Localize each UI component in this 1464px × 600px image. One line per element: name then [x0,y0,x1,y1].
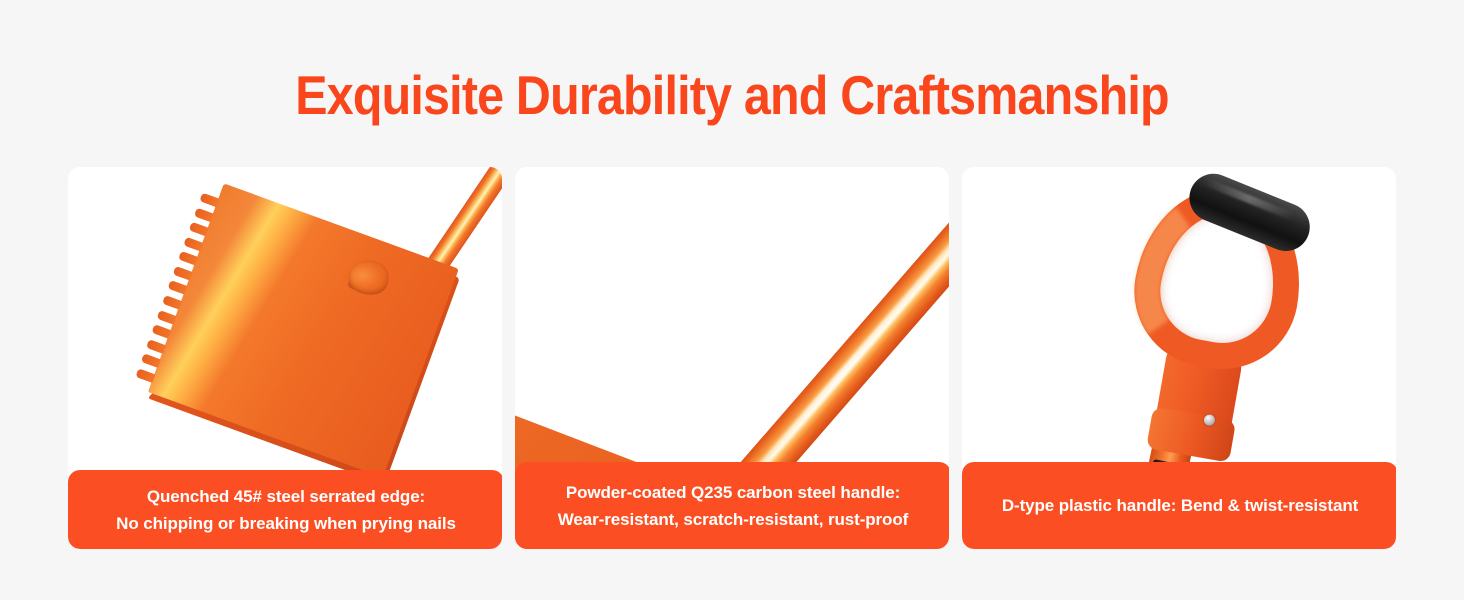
infographic-page: Exquisite Durability and Craftsmanship [0,0,1464,600]
page-title: Exquisite Durability and Craftsmanship [88,64,1376,126]
tooth [199,193,219,208]
tooth [178,251,198,266]
tooth [146,339,166,354]
tooth [189,222,209,237]
caption-line: Quenched 45# steel serrated edge: [147,483,425,510]
tooth [173,266,193,281]
feature-card-serrated-edge: Quenched 45# steel serrated edge: No chi… [68,167,502,549]
caption-bar-serrated-edge: Quenched 45# steel serrated edge: No chi… [68,470,502,549]
caption-bar-d-type-handle: D-type plastic handle: Bend & twist-resi… [962,462,1396,549]
tooth [167,280,187,295]
caption-line: D-type plastic handle: Bend & twist-resi… [1002,492,1358,519]
tooth [135,368,155,383]
caption-line: No chipping or breaking when prying nail… [116,510,456,537]
tooth [162,295,182,310]
tooth [194,207,214,222]
caption-line: Wear-resistant, scratch-resistant, rust-… [558,506,908,533]
handle-socket [348,260,389,295]
feature-card-row: Quenched 45# steel serrated edge: No chi… [68,167,1396,549]
tooth [157,310,177,325]
d-handle-body: VEVOR [1095,167,1324,491]
tooth [141,354,161,369]
caption-line: Powder-coated Q235 carbon steel handle: [566,479,900,506]
caption-bar-powder-coated-handle: Powder-coated Q235 carbon steel handle: … [515,462,949,549]
blade-body [143,183,459,490]
feature-card-powder-coated-handle: Powder-coated Q235 carbon steel handle: … [515,167,949,549]
tooth [183,237,203,252]
feature-card-d-type-handle: VEVOR D-type plastic handle: Bend & twis… [962,167,1396,549]
tooth [151,324,171,339]
